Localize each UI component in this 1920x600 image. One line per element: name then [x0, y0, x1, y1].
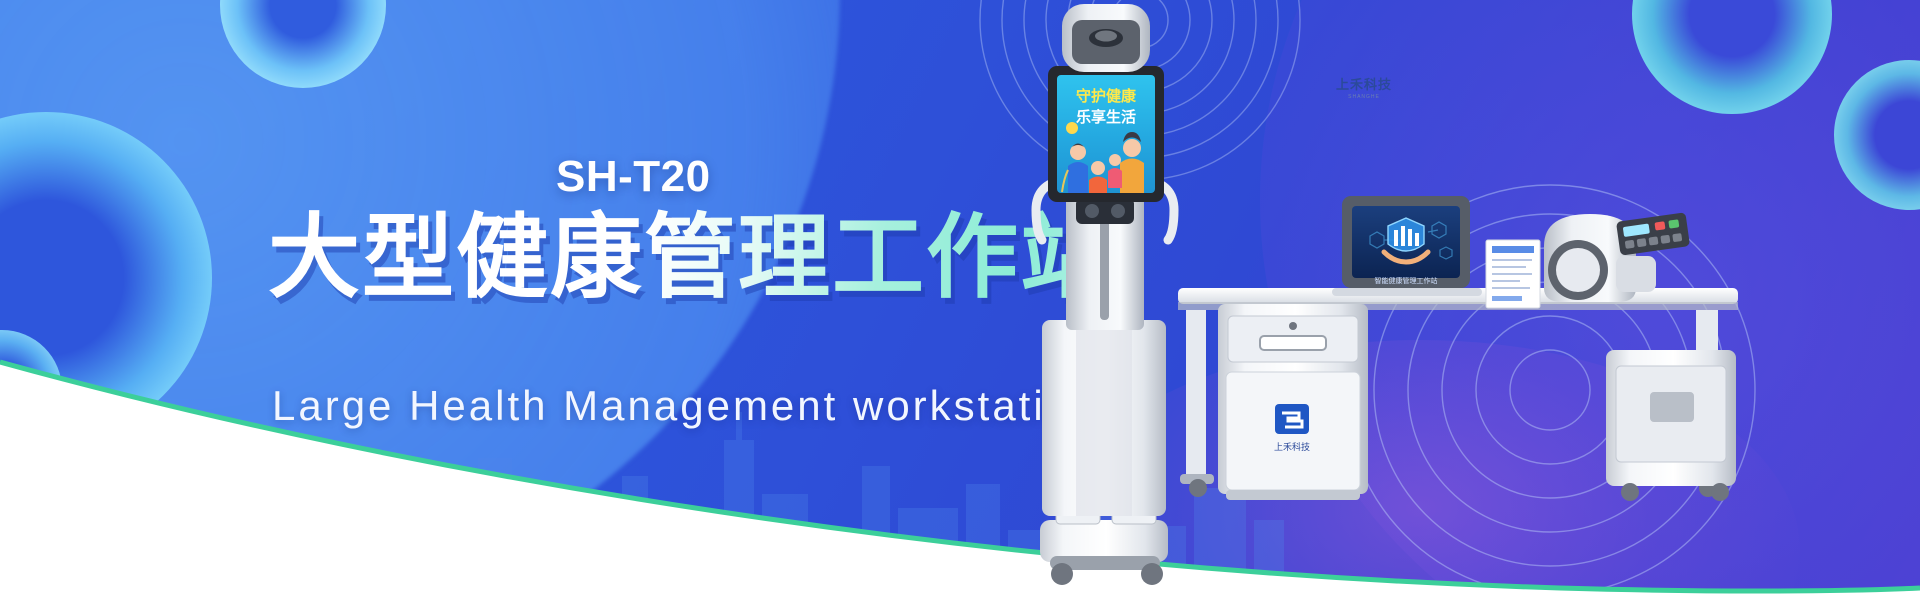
laptop-caption: 智能健康管理工作站 [1375, 276, 1438, 285]
headline-chinese: 大型健康管理工作站 [268, 208, 1114, 309]
report-paper [1486, 240, 1540, 308]
kiosk-brand-text: 上禾科技 [1334, 74, 1394, 93]
banner-root: SH-T20 大型健康管理工作站 Large Health Management… [0, 0, 1920, 600]
laptop: 智能健康管理工作站 [1332, 196, 1482, 296]
kiosk-screen-title-2: 乐享生活 [1076, 108, 1136, 126]
model-label: SH-T20 [556, 152, 711, 202]
printer-cabinet: 上禾科技 [1218, 304, 1368, 500]
subheadline-english: Large Health Management workstation [272, 382, 1098, 430]
desk-unit: 上禾科技 [1178, 196, 1738, 501]
product-illustration: 守护健康 乐享生活 [1020, 0, 1920, 600]
cabinet-brand-logo [1275, 404, 1309, 434]
side-cabinet [1606, 350, 1736, 501]
copy-block: SH-T20 大型健康管理工作站 Large Health Management… [0, 0, 1040, 600]
kiosk-unit: 守护健康 乐享生活 [1036, 4, 1174, 585]
cabinet-brand-text: 上禾科技 [1274, 441, 1310, 452]
kiosk-brand-sub: SHANGHE [1334, 94, 1394, 100]
kiosk-brand-block: 上禾科技 SHANGHE [1334, 74, 1394, 100]
kiosk-screen-title-1: 守护健康 [1076, 87, 1137, 105]
